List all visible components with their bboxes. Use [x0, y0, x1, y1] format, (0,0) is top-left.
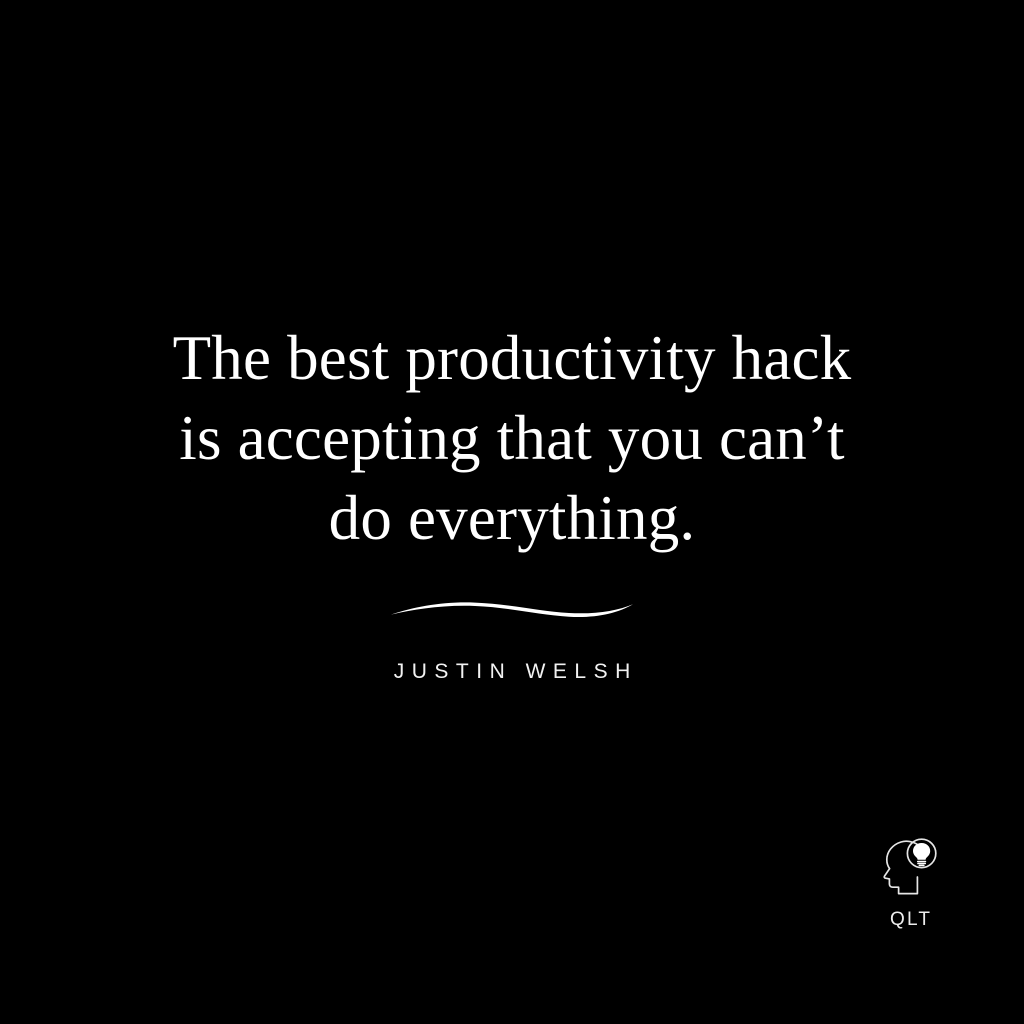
quote-line-2: is accepting that you can’t — [0, 398, 1024, 478]
wave-flourish-divider-icon — [389, 590, 635, 624]
brand-name: QLT — [888, 910, 932, 929]
divider — [0, 590, 1024, 624]
quote-line-1: The best productivity hack — [0, 318, 1024, 398]
quote-text: The best productivity hack is accepting … — [0, 318, 1024, 558]
brand-lockup: QLT — [846, 832, 974, 929]
quote-line-3: do everything. — [0, 478, 1024, 558]
head-profile-lightbulb-icon — [877, 832, 943, 898]
quote-card: The best productivity hack is accepting … — [0, 0, 1024, 1024]
author-attribution: JUSTIN WELSH — [0, 660, 1024, 684]
